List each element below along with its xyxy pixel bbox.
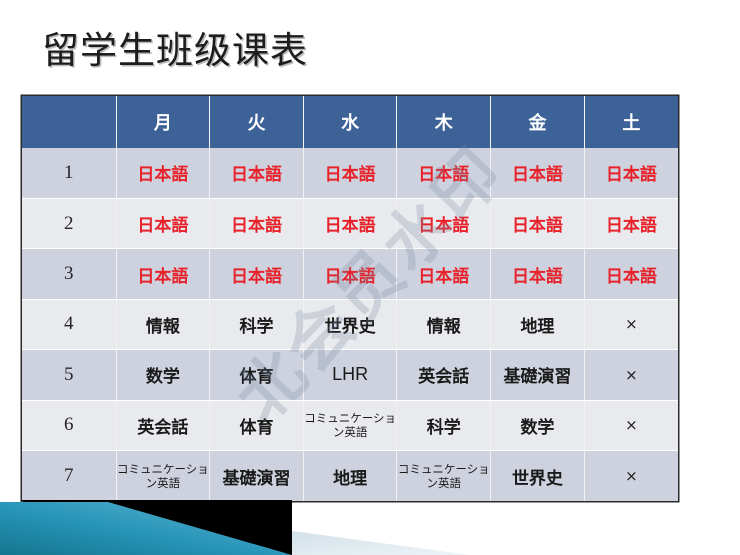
table-row: 2日本語日本語日本語日本語日本語日本語 bbox=[22, 198, 678, 248]
header-day-tue: 火 bbox=[210, 96, 304, 148]
timetable-cell: 日本語 bbox=[397, 249, 491, 299]
timetable-cell: コミュニケーション英語 bbox=[116, 451, 210, 501]
period-number: 3 bbox=[22, 249, 116, 299]
timetable-cell: 日本語 bbox=[303, 249, 397, 299]
timetable-cell: 日本語 bbox=[116, 249, 210, 299]
table-row: 4情報科学世界史情報地理× bbox=[22, 299, 678, 349]
decorative-corner-graphic bbox=[0, 495, 740, 555]
header-corner bbox=[22, 96, 116, 148]
timetable-cell: 数学 bbox=[116, 350, 210, 400]
timetable-cell: 日本語 bbox=[210, 148, 304, 198]
period-number: 2 bbox=[22, 198, 116, 248]
timetable-cell: 地理 bbox=[491, 299, 585, 349]
timetable-head: 月 火 水 木 金 土 bbox=[22, 96, 678, 148]
timetable-cell: 日本語 bbox=[491, 148, 585, 198]
timetable-cell: × bbox=[584, 299, 678, 349]
timetable-cell: 日本語 bbox=[210, 249, 304, 299]
timetable-cell: 日本語 bbox=[210, 198, 304, 248]
timetable-cell: 日本語 bbox=[116, 148, 210, 198]
timetable-cell: コミュニケーション英語 bbox=[303, 400, 397, 450]
timetable-cell: 体育 bbox=[210, 400, 304, 450]
timetable-cell: 日本語 bbox=[584, 198, 678, 248]
timetable-cell: 体育 bbox=[210, 350, 304, 400]
timetable-cell: 英会話 bbox=[116, 400, 210, 450]
timetable-cell: 英会話 bbox=[397, 350, 491, 400]
period-number: 6 bbox=[22, 400, 116, 450]
header-row: 月 火 水 木 金 土 bbox=[22, 96, 678, 148]
period-number: 1 bbox=[22, 148, 116, 198]
table-row: 5数学体育LHR英会話基礎演習× bbox=[22, 350, 678, 400]
timetable-cell: × bbox=[584, 400, 678, 450]
header-day-sat: 土 bbox=[584, 96, 678, 148]
table-row: 1日本語日本語日本語日本語日本語日本語 bbox=[22, 148, 678, 198]
table-row: 3日本語日本語日本語日本語日本語日本語 bbox=[22, 249, 678, 299]
header-day-mon: 月 bbox=[116, 96, 210, 148]
timetable-cell: 基礎演習 bbox=[210, 451, 304, 501]
period-number: 4 bbox=[22, 299, 116, 349]
timetable-cell: LHR bbox=[303, 350, 397, 400]
timetable-cell: 世界史 bbox=[303, 299, 397, 349]
timetable-container: 月 火 水 木 金 土 1日本語日本語日本語日本語日本語日本語2日本語日本語日本… bbox=[22, 96, 678, 501]
timetable-cell: 日本語 bbox=[303, 198, 397, 248]
timetable-cell: × bbox=[584, 451, 678, 501]
timetable-cell: × bbox=[584, 350, 678, 400]
header-day-thu: 木 bbox=[397, 96, 491, 148]
timetable-cell: 科学 bbox=[397, 400, 491, 450]
timetable-cell: 日本語 bbox=[303, 148, 397, 198]
timetable-cell: 基礎演習 bbox=[491, 350, 585, 400]
timetable-cell: コミュニケーション英語 bbox=[397, 451, 491, 501]
timetable: 月 火 水 木 金 土 1日本語日本語日本語日本語日本語日本語2日本語日本語日本… bbox=[22, 96, 678, 501]
timetable-cell: 地理 bbox=[303, 451, 397, 501]
timetable-cell: 世界史 bbox=[491, 451, 585, 501]
timetable-body: 1日本語日本語日本語日本語日本語日本語2日本語日本語日本語日本語日本語日本語3日… bbox=[22, 148, 678, 501]
table-row: 7コミュニケーション英語基礎演習地理コミュニケーション英語世界史× bbox=[22, 451, 678, 501]
slide-canvas: 留学生班级课表 月 火 水 木 金 土 1日本語日本語日本語日本語日本語日本語2… bbox=[0, 0, 740, 555]
timetable-cell: 日本語 bbox=[491, 198, 585, 248]
deco-pale-triangle bbox=[292, 531, 470, 555]
page-title: 留学生班级课表 bbox=[42, 27, 308, 75]
timetable-cell: 科学 bbox=[210, 299, 304, 349]
timetable-cell: 日本語 bbox=[584, 249, 678, 299]
timetable-cell: 日本語 bbox=[397, 198, 491, 248]
period-number: 5 bbox=[22, 350, 116, 400]
timetable-cell: 情報 bbox=[397, 299, 491, 349]
timetable-cell: 日本語 bbox=[397, 148, 491, 198]
period-number: 7 bbox=[22, 451, 116, 501]
timetable-cell: 数学 bbox=[491, 400, 585, 450]
table-row: 6英会話体育コミュニケーション英語科学数学× bbox=[22, 400, 678, 450]
header-day-fri: 金 bbox=[491, 96, 585, 148]
timetable-cell: 日本語 bbox=[491, 249, 585, 299]
header-day-wed: 水 bbox=[303, 96, 397, 148]
timetable-cell: 情報 bbox=[116, 299, 210, 349]
timetable-cell: 日本語 bbox=[584, 148, 678, 198]
timetable-cell: 日本語 bbox=[116, 198, 210, 248]
